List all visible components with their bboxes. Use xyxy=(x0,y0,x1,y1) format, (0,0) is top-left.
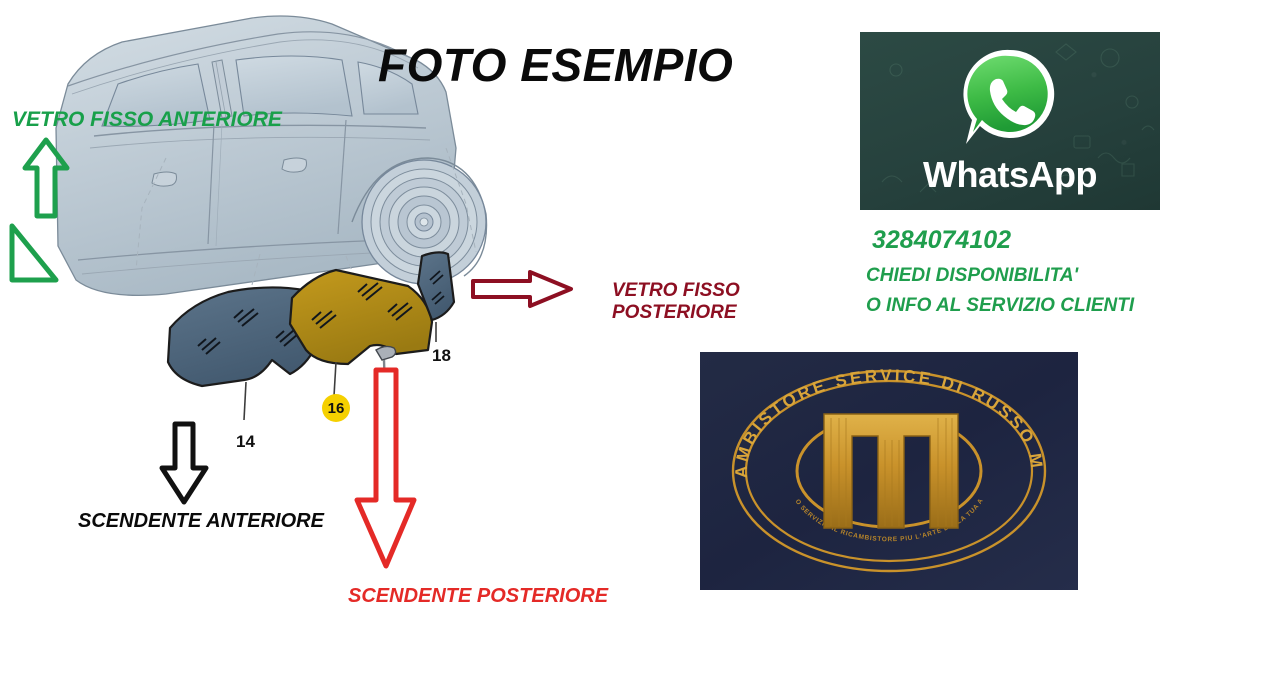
page-title: FOTO ESEMPIO xyxy=(378,38,733,92)
label-scendente-posteriore: SCENDENTE POSTERIORE xyxy=(348,585,608,609)
arrow-up-green-icon xyxy=(22,136,70,220)
label-vetro-fisso-posteriore: VETRO FISSO POSTERIORE xyxy=(612,280,740,325)
contact-line-customer-service: O INFO AL SERVIZIO CLIENTI xyxy=(866,295,1134,317)
arrow-down-black-icon xyxy=(158,420,210,506)
arrow-down-red-icon xyxy=(352,366,418,570)
logo-monogram xyxy=(824,414,958,528)
label-vetro-fisso-anteriore: VETRO FISSO ANTERIORE xyxy=(12,108,282,133)
contact-line-availability: CHIEDI DISPONIBILITA' xyxy=(866,265,1078,287)
part-16-shape xyxy=(290,270,432,364)
whatsapp-logo-icon xyxy=(958,46,1062,150)
arrow-right-darkred-icon xyxy=(470,268,574,310)
whatsapp-banner[interactable]: WhatsApp xyxy=(860,32,1160,210)
part-callout-16: 16 xyxy=(322,394,350,422)
label-scendente-anteriore: SCENDENTE ANTERIORE xyxy=(78,510,324,534)
part-callout-14: 14 xyxy=(236,432,255,452)
part-callout-18: 18 xyxy=(432,346,451,366)
phone-number[interactable]: 3284074102 xyxy=(872,226,1011,255)
triangle-marker-green-icon xyxy=(8,222,60,284)
whatsapp-wordmark: WhatsApp xyxy=(860,154,1160,196)
company-logo: MRICAMBISTORE SERVICE DI RUSSO MARCO AL … xyxy=(700,352,1078,590)
poster-canvas: 14 16 17 18 FOTO ESEMPIO VETRO FISSO ANT… xyxy=(0,0,1264,678)
